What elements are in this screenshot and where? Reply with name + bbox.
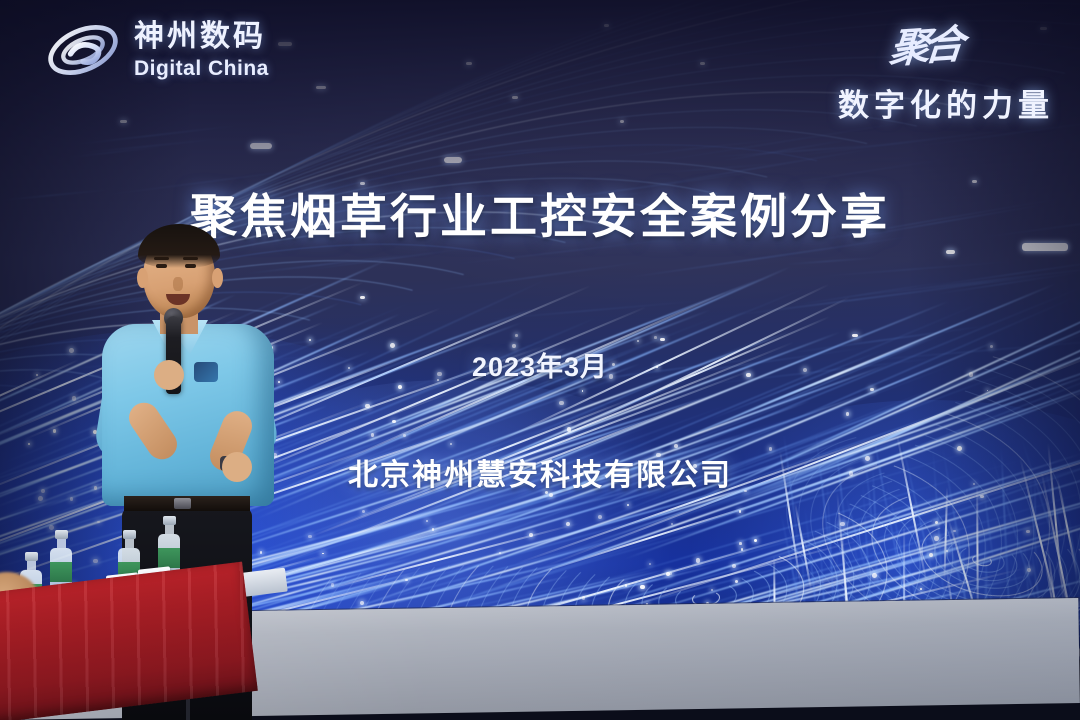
light-dash [466, 62, 472, 65]
light-dash [512, 96, 518, 99]
light-particle [711, 589, 713, 591]
bottle-neck [125, 539, 134, 548]
light-particle [582, 596, 585, 599]
light-particle [732, 564, 736, 568]
light-particle [674, 444, 678, 448]
speaker-brow-right [183, 257, 198, 260]
light-streak [79, 138, 221, 154]
light-dash [444, 157, 462, 163]
light-dash [604, 24, 609, 27]
light-particle [649, 563, 651, 565]
speaker-hand-right [222, 452, 252, 482]
light-dash [316, 86, 326, 89]
light-particle [625, 584, 628, 587]
light-particle [403, 434, 406, 437]
speaker-hand-left [154, 360, 184, 390]
light-particle [1026, 530, 1029, 533]
light-particle [934, 536, 939, 541]
brand-name-cn: 神州数码 [134, 22, 269, 52]
bottle-neck [27, 561, 36, 570]
light-particle [739, 542, 742, 545]
light-particle [739, 510, 741, 512]
light-particle [846, 412, 849, 415]
bottle-cap [163, 516, 176, 525]
light-particle [870, 388, 873, 391]
light-particle [1027, 568, 1031, 572]
light-particle [365, 404, 369, 408]
bottle-cap [55, 530, 68, 539]
brand-logo: 神州数码 Digital China [44, 18, 269, 82]
light-particle [529, 533, 533, 537]
speaker-brow-left [154, 257, 169, 260]
speaker-hair [138, 224, 220, 268]
bottle-neck [165, 525, 174, 534]
speaker-chest-badge-icon [194, 362, 218, 382]
light-particle [872, 573, 877, 578]
event-slogan: 聚合 数字化的力量 [838, 16, 1054, 125]
light-dash [946, 250, 955, 254]
light-particle [840, 522, 844, 526]
light-dash [360, 296, 365, 299]
stage-photo: 聚焦烟草行业工控安全案例分享 2023年3月 北京神州慧安科技有限公司 神州数码 [0, 0, 1080, 720]
light-particle [640, 585, 644, 589]
light-particle [499, 552, 501, 554]
brand-wordmark: 神州数码 Digital China [134, 22, 269, 79]
light-dash [250, 143, 272, 149]
light-particle [308, 535, 311, 538]
foreground-table [0, 540, 320, 720]
light-particle [920, 588, 922, 590]
light-particle [654, 336, 657, 339]
light-dash [852, 334, 858, 337]
speaker-nose [173, 277, 183, 291]
digital-china-spiral-icon [44, 18, 122, 82]
brand-name-en: Digital China [134, 58, 269, 79]
speaker-eye-left [156, 264, 167, 268]
bottle-cap [123, 530, 136, 539]
light-particle [371, 433, 375, 437]
light-particle [432, 528, 435, 531]
light-streak [75, 125, 240, 146]
light-dash [392, 420, 396, 423]
slogan-subtitle: 数字化的力量 [838, 80, 1054, 125]
bottle-label [50, 562, 72, 582]
speaker-ear-left [137, 268, 148, 288]
light-particle [515, 334, 518, 337]
bottle-label [158, 548, 180, 568]
slogan-calligraphy: 聚合 [835, 12, 961, 78]
bottle-neck [57, 539, 66, 548]
light-particle [331, 583, 335, 587]
light-dash [700, 62, 705, 65]
light-particle [559, 401, 563, 405]
light-particle [405, 579, 407, 581]
light-dash [660, 338, 665, 341]
light-streak [68, 146, 163, 159]
light-dash [278, 42, 292, 46]
light-particle [72, 396, 77, 401]
light-dash [620, 120, 624, 123]
light-particle [741, 548, 743, 550]
speaker-eye-right [185, 264, 196, 268]
speaker-belt-buckle [174, 498, 191, 509]
light-particle [666, 572, 670, 576]
bottle-cap [25, 552, 38, 561]
light-particle [398, 385, 402, 389]
light-dash [120, 120, 127, 123]
light-particle [53, 429, 56, 432]
speaker-ear-right [212, 268, 223, 288]
